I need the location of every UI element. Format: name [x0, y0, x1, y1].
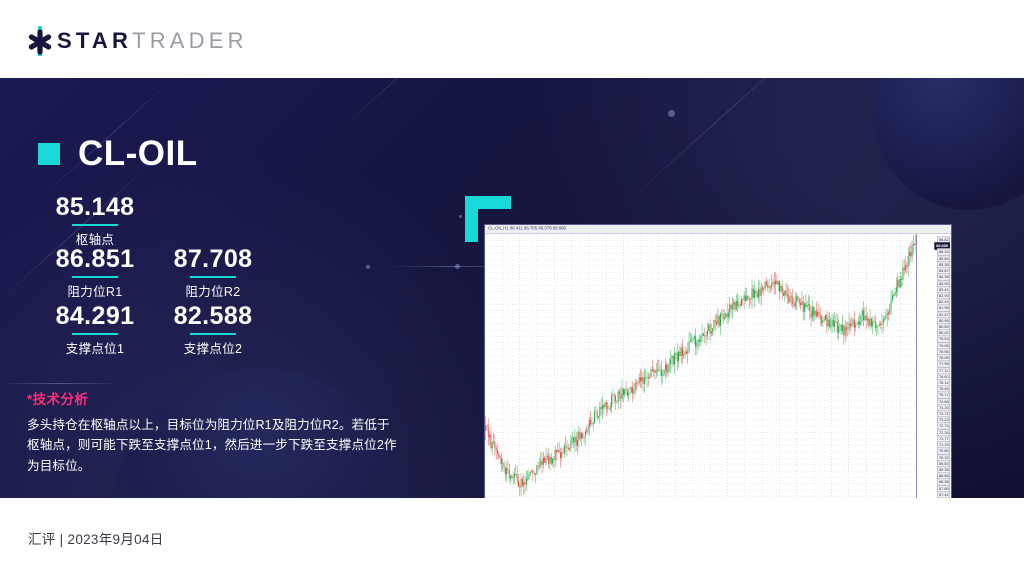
stat-label: 支撑点位2	[148, 338, 278, 357]
technical-analysis-block: *技术分析 多头持仓在枢轴点以上，目标位为阻力位R1及阻力位R2。若低于枢轴点，…	[27, 388, 397, 476]
analysis-title: *技术分析	[27, 388, 397, 408]
stat-support-1: 84.291 支撑点位1	[30, 303, 160, 357]
analysis-body: 多头持仓在枢轴点以上，目标位为阻力位R1及阻力位R2。若低于枢轴点，则可能下跌至…	[27, 415, 397, 476]
stat-underline	[72, 276, 118, 278]
asterisk-logo-icon	[27, 26, 53, 56]
decorative-dot-1	[366, 265, 370, 269]
main-dark-panel: CL-OIL 85.148 枢轴点 86.851 阻力位R1 87.708 阻力…	[0, 78, 1024, 498]
slide-root: STAR TRADER CL-OIL 85.148 枢轴点 86.851	[0, 0, 1024, 576]
stat-resistance-2: 87.708 阻力位R2	[148, 246, 278, 300]
stat-underline	[72, 224, 118, 226]
stat-value: 84.291	[30, 303, 160, 329]
decorative-sphere-topright	[874, 78, 1024, 210]
page-title: CL-OIL	[78, 136, 198, 171]
stat-underline	[190, 276, 236, 278]
stat-support-2: 82.588 支撑点位2	[148, 303, 278, 357]
chart-body[interactable]: 86.8286.68686.3285.8485.3584.8784.3883.9…	[485, 234, 951, 498]
brand-name-bold: STAR	[57, 28, 132, 54]
teal-square-marker	[38, 143, 60, 165]
stat-value: 85.148	[30, 194, 160, 220]
decorative-dot-4	[668, 110, 675, 117]
candlestick-plot[interactable]	[485, 234, 916, 498]
page-header: STAR TRADER	[0, 0, 1024, 78]
asterisk-glyph	[27, 29, 53, 55]
brand-name-light: TRADER	[132, 28, 248, 54]
stat-value: 87.708	[148, 246, 278, 272]
decorative-streak-3	[330, 78, 487, 139]
decorative-line-2	[0, 383, 120, 384]
decorative-dot-2	[459, 215, 462, 218]
stat-label: 阻力位R1	[30, 281, 160, 300]
stat-label: 阻力位R2	[148, 281, 278, 300]
stat-pivot-point: 85.148 枢轴点	[30, 194, 160, 248]
stat-value: 82.588	[148, 303, 278, 329]
brand-logo: STAR TRADER	[27, 26, 248, 56]
decorative-streak-4	[620, 78, 814, 209]
price-axis[interactable]: 86.8286.68686.3285.8485.3584.8784.3883.9…	[916, 234, 951, 498]
chart-window[interactable]: CL-OIL,H1 86.411 86.785 86.379 86.686 86…	[484, 224, 952, 498]
candlestick-svg	[485, 234, 916, 498]
stat-value: 86.851	[30, 246, 160, 272]
chart-titlebar-text: CL-OIL,H1 86.411 86.785 86.379 86.686	[488, 226, 566, 231]
stat-label: 支撑点位1	[30, 338, 160, 357]
instrument-title-row: CL-OIL	[38, 136, 198, 171]
stat-underline	[72, 333, 118, 335]
chart-titlebar: CL-OIL,H1 86.411 86.785 86.379 86.686	[485, 225, 951, 234]
stat-underline	[190, 333, 236, 335]
stat-resistance-1: 86.851 阻力位R1	[30, 246, 160, 300]
page-footer: 汇评 | 2023年9月04日	[0, 498, 1024, 576]
footer-text: 汇评 | 2023年9月04日	[28, 528, 164, 548]
